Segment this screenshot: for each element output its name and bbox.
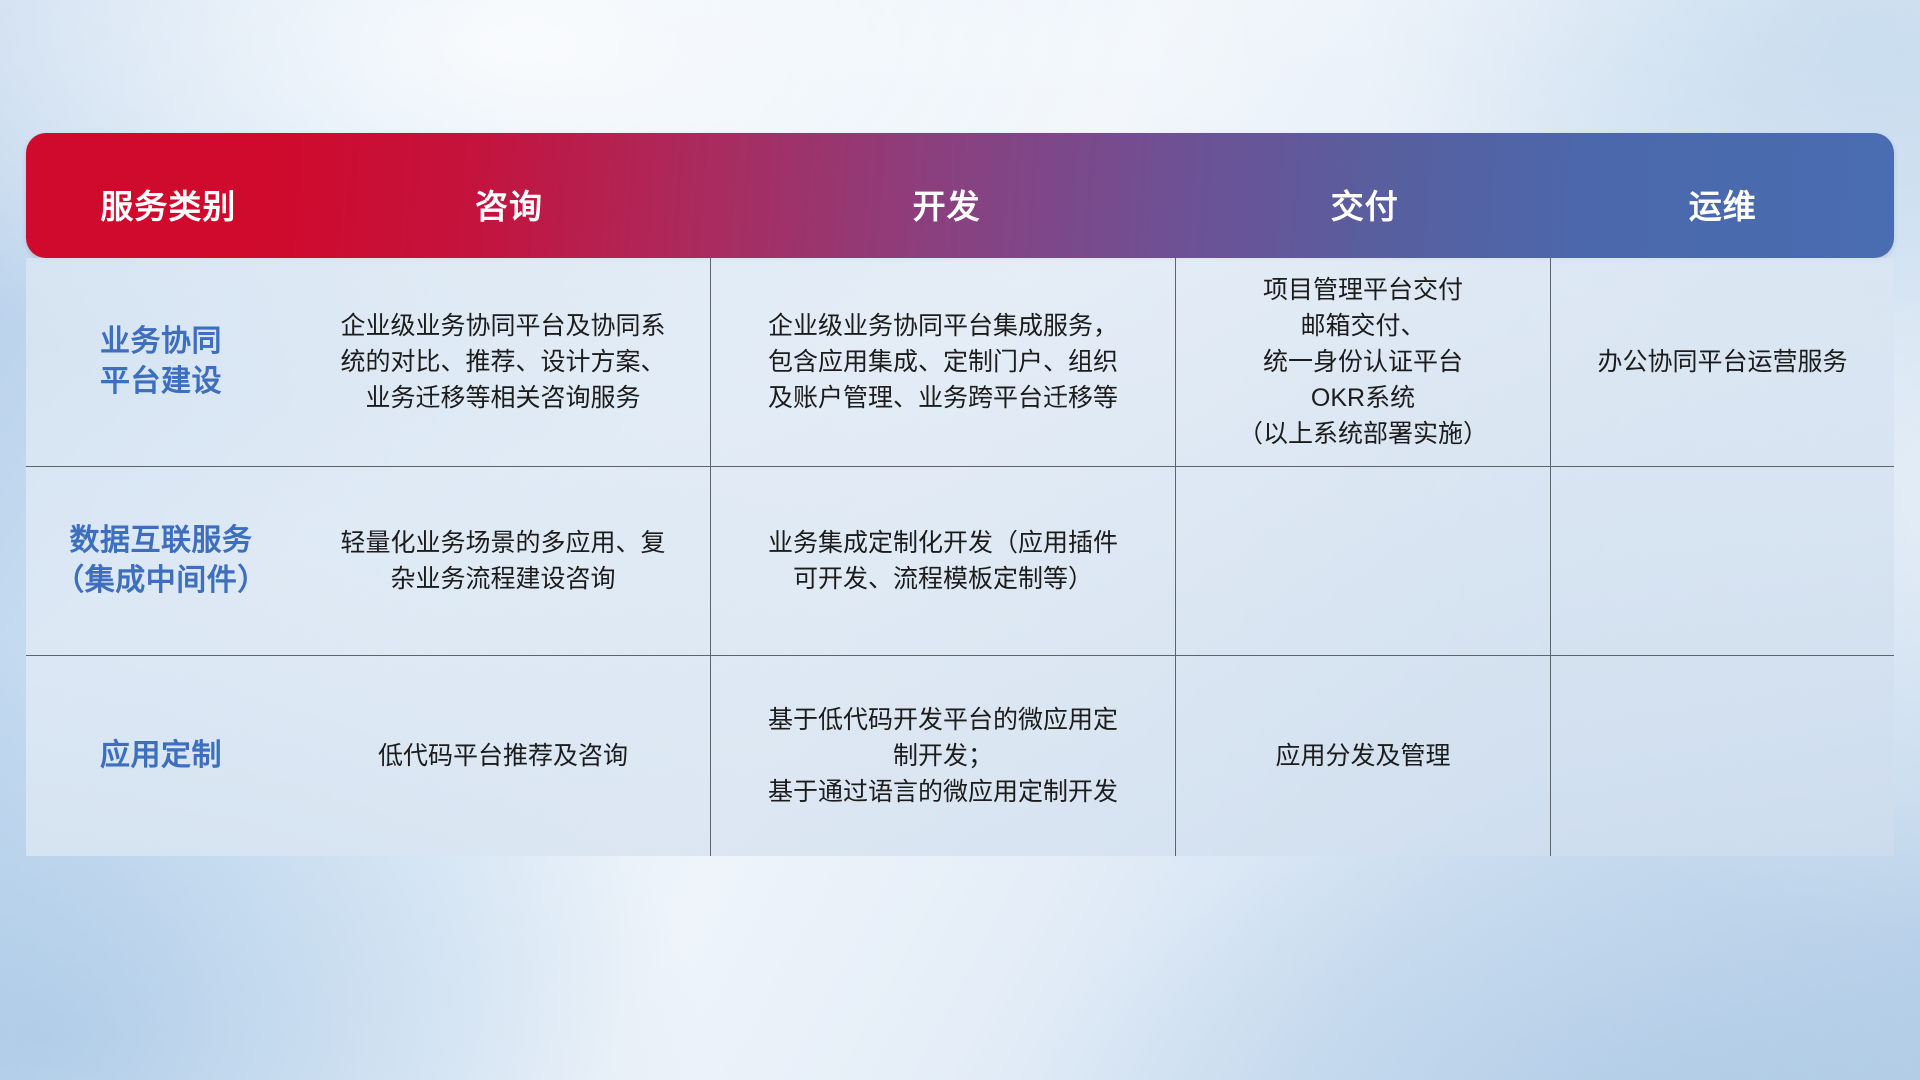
- table-row: 数据互联服务 （集成中间件） 轻量化业务场景的多应用、复 杂业务流程建设咨询 业…: [26, 466, 1894, 655]
- cell-consulting: 轻量化业务场景的多应用、复 杂业务流程建设咨询: [296, 467, 710, 655]
- cell-development: 基于低代码开发平台的微应用定 制开发； 基于通过语言的微应用定制开发: [710, 656, 1175, 856]
- header-service-category: 服务类别: [26, 180, 303, 258]
- cell-operations: [1550, 467, 1894, 655]
- row-category-label: 业务协同 平台建设: [26, 258, 296, 466]
- cell-consulting: 低代码平台推荐及咨询: [296, 656, 710, 856]
- cell-delivery: [1175, 467, 1550, 655]
- cell-delivery: 项目管理平台交付 邮箱交付、 统一身份认证平台 OKR系统 （以上系统部署实施）: [1175, 258, 1550, 466]
- cell-operations: [1550, 656, 1894, 856]
- table-body: 业务协同 平台建设 企业级业务协同平台及协同系 统的对比、推荐、设计方案、 业务…: [26, 258, 1894, 856]
- table-header-row: 服务类别 咨询 开发 交付 运维: [26, 133, 1894, 258]
- cell-development: 企业级业务协同平台集成服务， 包含应用集成、定制门户、组织 及账户管理、业务跨平…: [710, 258, 1175, 466]
- row-category-label: 应用定制: [26, 656, 296, 856]
- cell-development: 业务集成定制化开发（应用插件 可开发、流程模板定制等）: [710, 467, 1175, 655]
- cell-consulting: 企业级业务协同平台及协同系 统的对比、推荐、设计方案、 业务迁移等相关咨询服务: [296, 258, 710, 466]
- table-row: 应用定制 低代码平台推荐及咨询 基于低代码开发平台的微应用定 制开发； 基于通过…: [26, 655, 1894, 856]
- cell-operations: 办公协同平台运营服务: [1550, 258, 1894, 466]
- header-development: 开发: [715, 180, 1178, 258]
- table-row: 业务协同 平台建设 企业级业务协同平台及协同系 统的对比、推荐、设计方案、 业务…: [26, 258, 1894, 466]
- service-matrix-table: 服务类别 咨询 开发 交付 运维 业务协同 平台建设 企业级业务协同平台及协同系…: [26, 133, 1894, 856]
- header-delivery: 交付: [1178, 180, 1551, 258]
- row-category-label: 数据互联服务 （集成中间件）: [26, 467, 296, 655]
- header-operations: 运维: [1551, 180, 1894, 258]
- header-consulting: 咨询: [303, 180, 715, 258]
- cell-delivery: 应用分发及管理: [1175, 656, 1550, 856]
